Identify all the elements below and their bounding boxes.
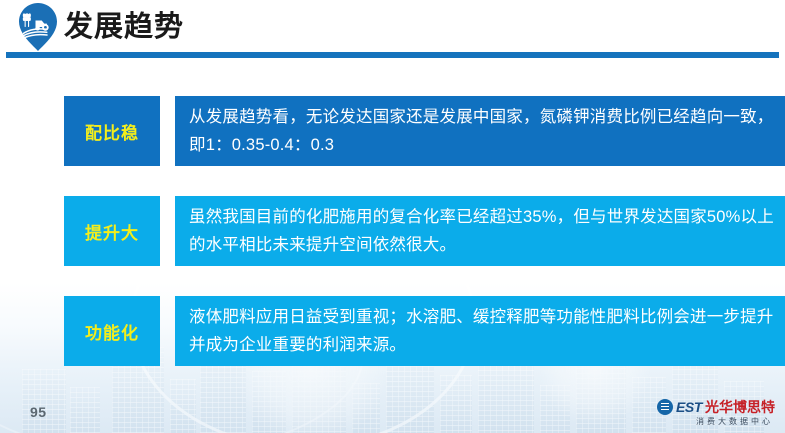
row-label-box[interactable]: 配比稳 [64,96,160,166]
row-label-text: 提升大 [85,219,139,244]
brand-logo: EST 光华博思特 消费大数据中心 [653,398,775,428]
row-label-box[interactable]: 提升大 [64,196,160,266]
page-title: 发展趋势 [64,7,184,47]
row-body-text: 液体肥料应用日益受到重视；水溶肥、缓控释肥等功能性肥料比例会进一步提升并成为企业… [189,303,784,359]
header-divider [6,52,779,58]
best-logo-icon [657,399,673,415]
slide-header: 发展趋势 [0,0,785,56]
row-text-box: 从发展趋势看，无论发达国家还是发展中国家，氮磷钾消费比例已经趋向一致，即1：0.… [175,96,785,166]
slide-canvas: 发展趋势 配比稳 从发展趋势看，无论发达国家还是发展中国家，氮磷钾消费比例已经趋… [0,0,785,433]
brand-latin-text: EST [676,399,702,415]
farm-location-pin-icon [14,2,62,54]
row-label-text: 功能化 [85,319,139,344]
brand-subtitle: 消费大数据中心 [653,416,775,427]
row-label-box[interactable]: 功能化 [64,296,160,366]
row-body-text: 从发展趋势看，无论发达国家还是发展中国家，氮磷钾消费比例已经趋向一致，即1：0.… [189,103,784,159]
row-label-text: 配比稳 [85,119,139,144]
page-number: 95 [30,404,47,420]
row-body-text: 虽然我国目前的化肥施用的复合化率已经超过35%，但与世界发达国家50%以上的水平… [189,203,784,259]
brand-chinese-text: 光华博思特 [705,399,775,415]
row-text-box: 液体肥料应用日益受到重视；水溶肥、缓控释肥等功能性肥料比例会进一步提升并成为企业… [175,296,785,366]
row-text-box: 虽然我国目前的化肥施用的复合化率已经超过35%，但与世界发达国家50%以上的水平… [175,196,785,266]
